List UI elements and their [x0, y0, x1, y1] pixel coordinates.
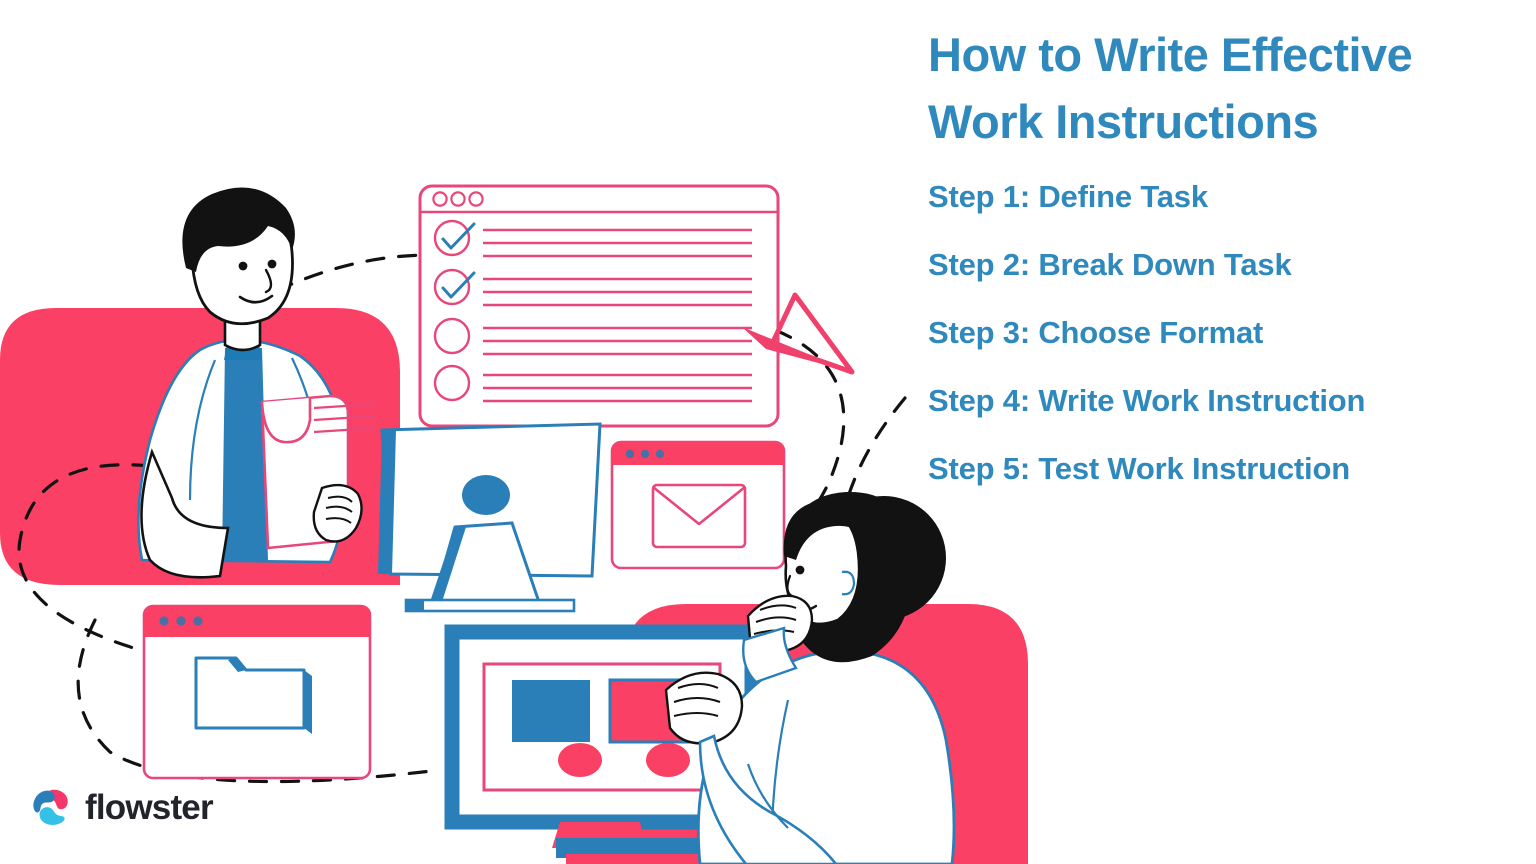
folder-window: [144, 606, 370, 778]
infographic-canvas: How to Write Effective Work Instructions…: [0, 0, 1536, 864]
page-title: How to Write Effective Work Instructions: [928, 22, 1528, 155]
steps-list: Step 1: Define Task Step 2: Break Down T…: [928, 181, 1528, 484]
step-item-2: Step 2: Break Down Task: [928, 249, 1528, 280]
step-item-4: Step 4: Write Work Instruction: [928, 385, 1528, 416]
email-window: [612, 442, 784, 568]
checklist-window: [420, 186, 778, 426]
brand-logo: flowster: [30, 786, 213, 828]
desktop-monitor-back: [378, 424, 600, 611]
illustration: [0, 0, 1040, 864]
step-item-1: Step 1: Define Task: [928, 181, 1528, 212]
text-pane: How to Write Effective Work Instructions…: [928, 22, 1528, 484]
flowster-logo-icon: [30, 786, 72, 828]
logo-wordmark: flowster: [85, 790, 213, 825]
step-item-5: Step 5: Test Work Instruction: [928, 453, 1528, 484]
step-item-3: Step 3: Choose Format: [928, 317, 1528, 348]
